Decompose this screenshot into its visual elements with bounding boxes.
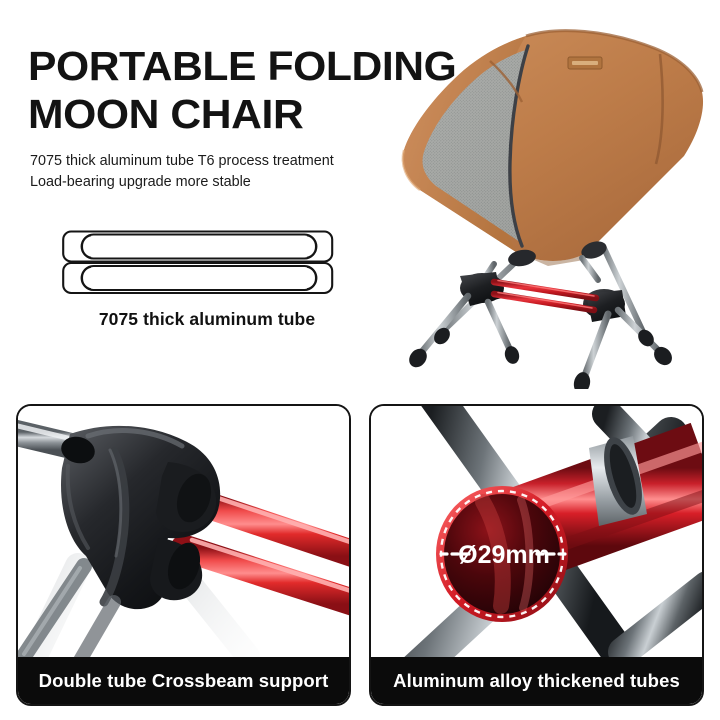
chair-feet [406, 325, 676, 389]
subtitle-block: 7075 thick aluminum tube T6 process trea… [30, 151, 430, 193]
subtitle-line-2: Load-bearing upgrade more stable [30, 172, 430, 193]
chair-seat-fabric [403, 31, 703, 266]
detail-panels: Double tube Crossbeam support [16, 404, 704, 706]
panel-crossbeam[interactable]: Double tube Crossbeam support [16, 404, 351, 706]
brand-leather-tag-icon [568, 57, 602, 69]
aluminum-tube-diagram [62, 229, 334, 299]
tube-diagram-caption: 7075 thick aluminum tube [62, 309, 352, 330]
subtitle-line-1: 7075 thick aluminum tube T6 process trea… [30, 151, 430, 172]
folding-moon-chair-icon [398, 14, 720, 389]
chair-product-photo [398, 14, 720, 389]
panel-tube-diameter-caption: Aluminum alloy thickened tubes [371, 657, 702, 704]
panel-tube-diameter[interactable]: Ø29mm Aluminum alloy thickened tubes [369, 404, 704, 706]
page-title: PORTABLE FOLDING MOON CHAIR [28, 42, 448, 138]
panel-crossbeam-caption: Double tube Crossbeam support [18, 657, 349, 704]
diameter-annotation: Ø29mm [441, 541, 565, 569]
double-tube-line-art-icon [62, 229, 334, 299]
diameter-label: Ø29mm [458, 541, 550, 569]
product-infographic: PORTABLE FOLDING MOON CHAIR 7075 thick a… [0, 0, 720, 720]
chair-frame [406, 258, 676, 389]
chair-red-crossbeam [494, 281, 596, 311]
